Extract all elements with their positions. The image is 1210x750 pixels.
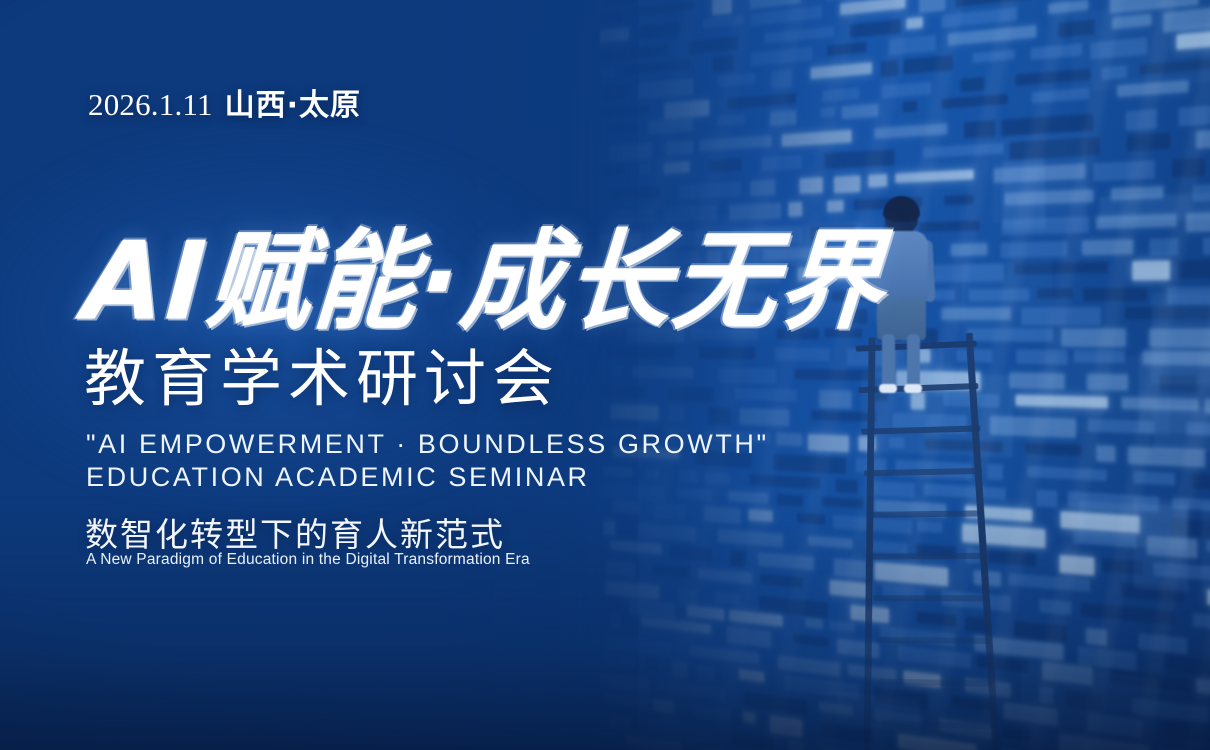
event-date-location: 2026.1.11山西·太原 xyxy=(88,80,361,124)
event-date: 2026.1.11 xyxy=(88,87,213,122)
english-title-line-1: "AI EMPOWERMENT · BOUNDLESS GROWTH" xyxy=(86,428,769,461)
tagline-chinese: 数智化转型下的育人新范式 xyxy=(85,508,505,556)
event-location: 山西·太原 xyxy=(225,88,361,123)
english-title-block: "AI EMPOWERMENT · BOUNDLESS GROWTH" EDUC… xyxy=(86,428,769,494)
page-subtitle: 教育学术研讨会 xyxy=(84,344,560,414)
page-title: AI赋能·成长无界 xyxy=(80,220,889,343)
conference-poster: 2026.1.11山西·太原 AI赋能·成长无界 教育学术研讨会 "AI EMP… xyxy=(0,0,1210,750)
english-title-line-2: EDUCATION ACADEMIC SEMINAR xyxy=(86,461,769,494)
poster-content: 2026.1.11山西·太原 AI赋能·成长无界 教育学术研讨会 "AI EMP… xyxy=(0,0,1210,750)
tagline-english: A New Paradigm of Education in the Digit… xyxy=(86,551,530,569)
